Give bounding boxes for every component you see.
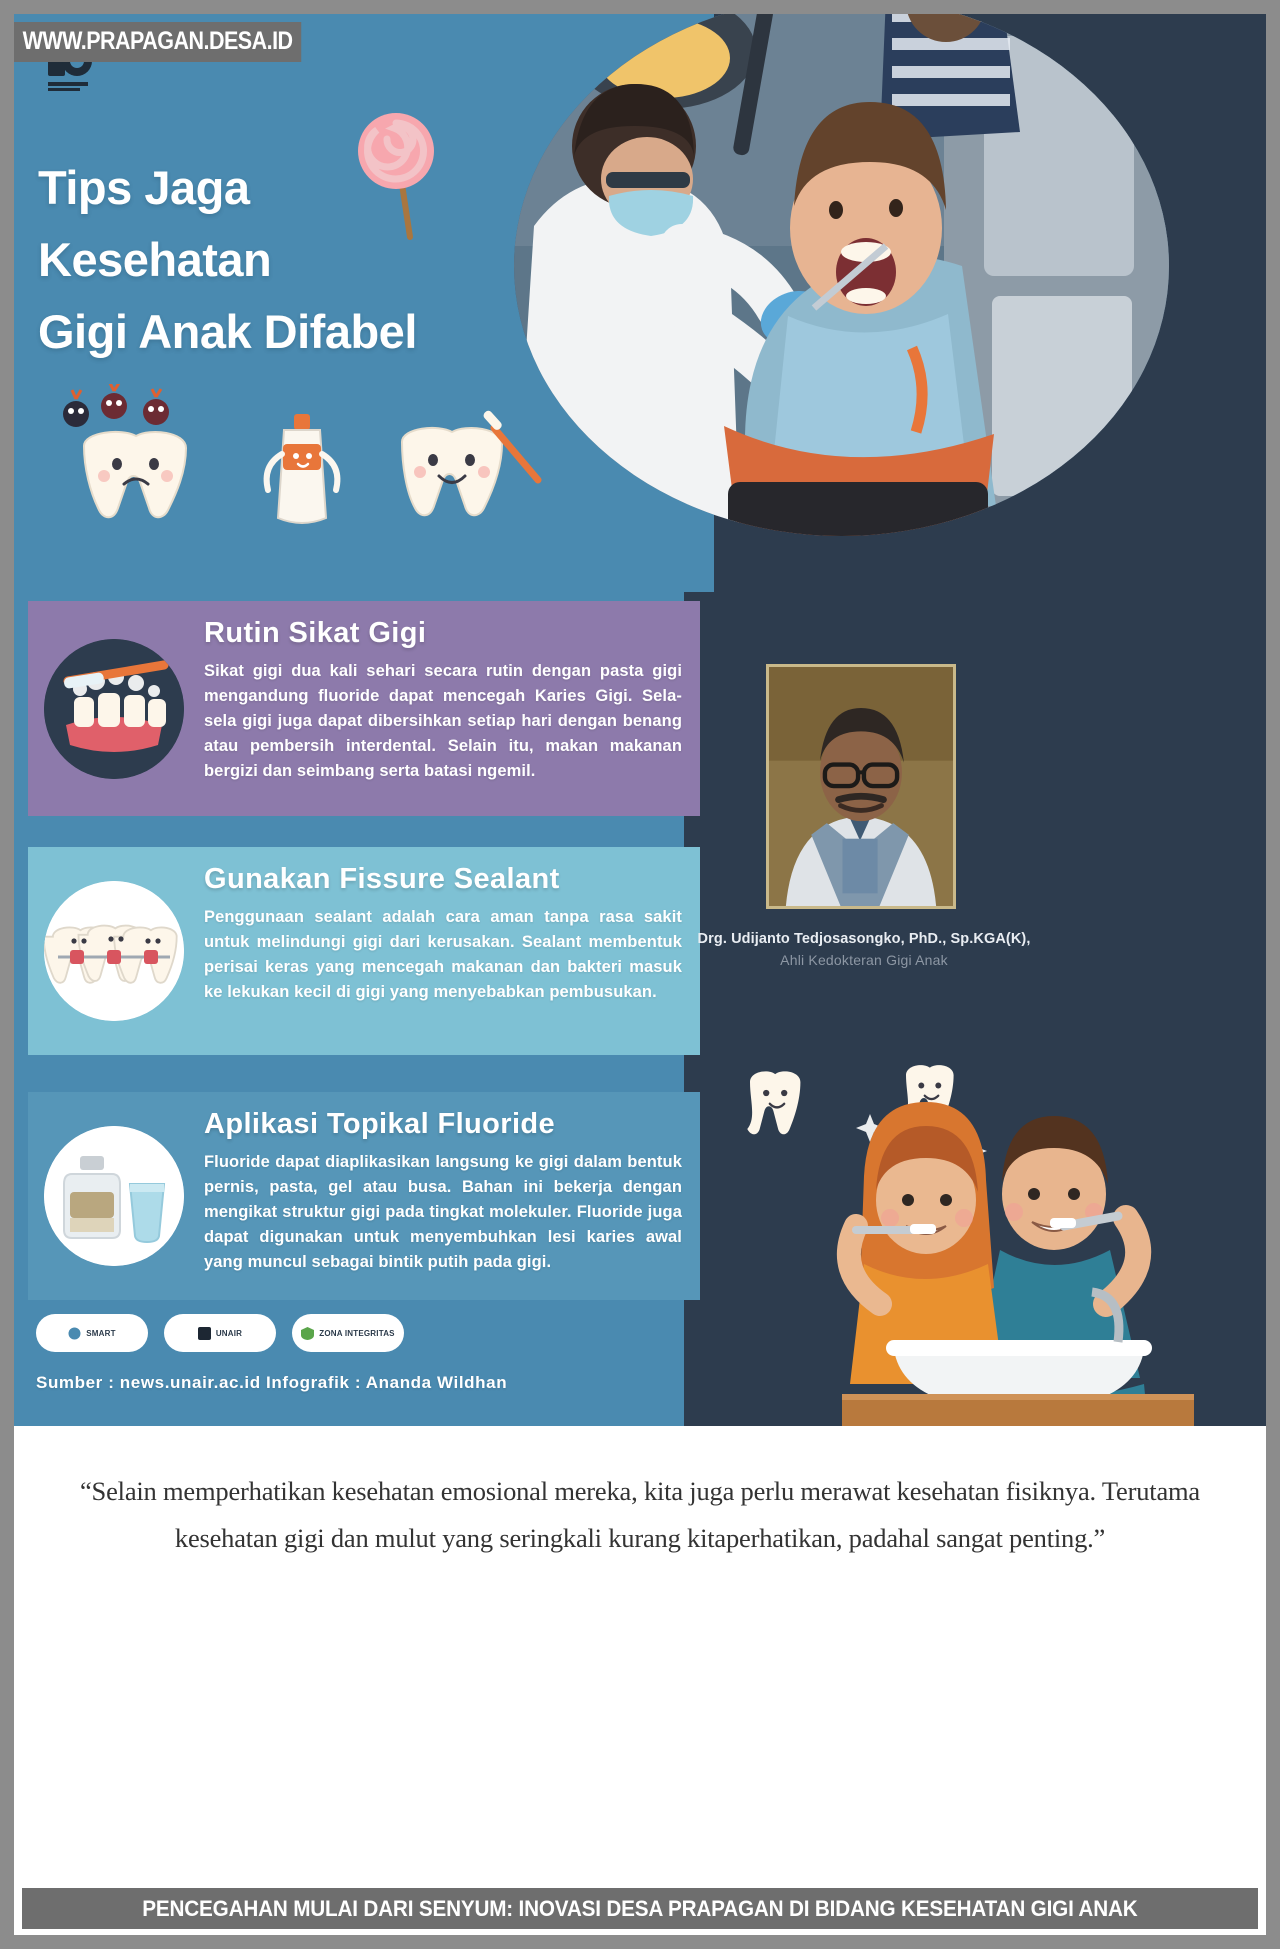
title-line-3: Gigi Anak Difabel (38, 296, 558, 368)
card-body: Sikat gigi dua kali sehari secara rutin … (204, 659, 682, 784)
mouthwash-bottle-icon (44, 1126, 184, 1266)
tooth-brushing-icon (44, 639, 184, 779)
smart-badge-icon (68, 1327, 81, 1340)
integrity-badge-icon (301, 1327, 314, 1340)
unair-badge-icon (198, 1327, 211, 1340)
three-teeth-braces-icon (44, 881, 184, 1021)
hero-dental-photo (514, 14, 1169, 536)
expert-caption: Drg. Udijanto Tedjosasongko, PhD., Sp.KG… (674, 929, 1054, 971)
site-watermark-top: WWW.PRAPAGAN.DESA.ID (14, 22, 301, 62)
card-rutin-sikat-gigi: Rutin Sikat Gigi Sikat gigi dua kali seh… (28, 601, 700, 816)
title-line-2: Kesehatan (38, 224, 558, 296)
card-gunakan-fissure-sealant: Gunakan Fissure Sealant Penggunaan seala… (28, 847, 700, 1055)
toothpaste-tube-icon (267, 414, 338, 523)
expert-portrait (766, 664, 956, 909)
card-title: Gunakan Fissure Sealant (204, 863, 682, 896)
source-credit: Sumber : news.unair.ac.id Infografik : A… (36, 1373, 507, 1393)
card-body: Penggunaan sealant adalah cara aman tanp… (204, 905, 682, 1005)
poster-title: Tips Jaga Kesehatan Gigi Anak Difabel (38, 152, 558, 368)
expert-name: Drg. Udijanto Tedjosasongko, PhD., Sp.KG… (674, 929, 1054, 949)
card-title: Aplikasi Topikal Fluoride (204, 1108, 682, 1141)
article-title-banner: PENCEGAHAN MULAI DARI SENYUM: INOVASI DE… (22, 1888, 1258, 1929)
badge-label: SMART (86, 1329, 115, 1338)
badge-item[interactable]: SMART (36, 1314, 148, 1352)
card-title: Rutin Sikat Gigi (204, 617, 682, 650)
badge-label: ZONA INTEGRITAS (319, 1329, 394, 1338)
badge-item[interactable]: UNAIR (164, 1314, 276, 1352)
page-frame: Tips Jaga Kesehatan Gigi Anak Difabel (0, 0, 1280, 1949)
badge-item[interactable]: ZONA INTEGRITAS (292, 1314, 404, 1352)
sad-tooth-icon (84, 432, 186, 517)
hero-illustration-row (14, 384, 554, 544)
card-body: Fluoride dapat diaplikasikan langsung ke… (204, 1150, 682, 1275)
title-line-1: Tips Jaga (38, 152, 558, 224)
kids-brushing-illustration (714, 1054, 1266, 1426)
article-title-text: PENCEGAHAN MULAI DARI SENYUM: INOVASI DE… (142, 1896, 1137, 1922)
germ-icons (63, 384, 169, 427)
quote-section: “Selain memperhatikan kesehatan emosiona… (14, 1426, 1266, 1935)
badge-label: UNAIR (216, 1329, 242, 1338)
card-aplikasi-topikal-fluoride: Aplikasi Topikal Fluoride Fluoride dapat… (28, 1092, 700, 1300)
happy-tooth-icon (402, 428, 502, 515)
expert-role: Ahli Kedokteran Gigi Anak (674, 949, 1054, 971)
infographic-poster: Tips Jaga Kesehatan Gigi Anak Difabel (14, 14, 1266, 1426)
quote-text: “Selain memperhatikan kesehatan emosiona… (60, 1468, 1220, 1562)
partner-badges: SMART UNAIR ZONA INTEGRITAS (36, 1314, 404, 1352)
